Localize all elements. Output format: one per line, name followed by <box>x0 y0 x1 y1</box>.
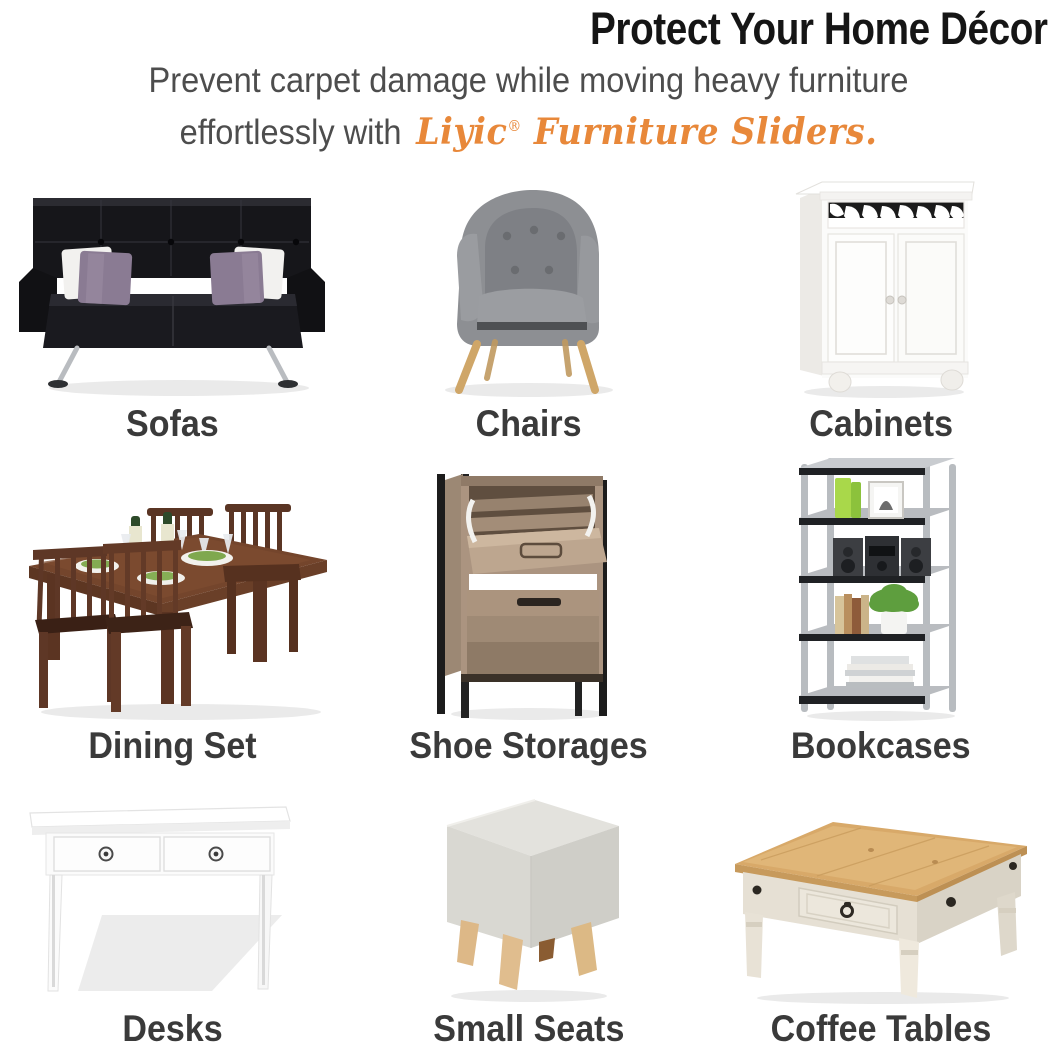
category-cell-shoe-storages[interactable]: Shoe Storages <box>352 452 704 774</box>
brand-wordmark: Liyic® Furniture Sliders. <box>411 111 878 153</box>
category-label-dining-set: Dining Set <box>88 724 256 772</box>
category-cell-sofas[interactable]: Sofas <box>0 168 352 452</box>
subtitle-line-2-text: effortlessly with <box>180 113 402 152</box>
category-label-coffee-tables: Coffee Tables <box>770 1007 991 1055</box>
bookcase-image <box>705 452 1057 724</box>
category-label-desks: Desks <box>122 1007 222 1055</box>
category-cell-chairs[interactable]: Chairs <box>352 168 704 452</box>
shoe-storage-image <box>352 452 704 724</box>
category-label-chairs: Chairs <box>476 402 582 450</box>
category-label-small-seats: Small Seats <box>433 1007 624 1055</box>
category-label-sofas: Sofas <box>126 402 219 450</box>
brand-name: Liyic <box>416 111 507 153</box>
page-title: Protect Your Home Décor <box>152 0 1051 58</box>
small-seat-image <box>352 774 704 1008</box>
desk-image <box>0 774 352 1008</box>
subtitle-line-2: effortlessly with Liyic® Furniture Slide… <box>43 104 1015 155</box>
category-cell-cabinets[interactable]: Cabinets <box>705 168 1057 452</box>
dining-set-image <box>0 452 352 724</box>
cabinet-image <box>705 168 1057 402</box>
coffee-table-image <box>705 774 1057 1008</box>
category-grid: Sofas <box>0 168 1057 1057</box>
category-label-bookcases: Bookcases <box>791 724 971 772</box>
sofa-image <box>0 168 352 402</box>
header: Protect Your Home Décor Prevent carpet d… <box>0 0 1057 170</box>
brand-product: Furniture Sliders. <box>534 111 877 153</box>
category-cell-small-seats[interactable]: Small Seats <box>352 774 704 1057</box>
category-cell-coffee-tables[interactable]: Coffee Tables <box>705 774 1057 1057</box>
category-cell-desks[interactable]: Desks <box>0 774 352 1057</box>
infographic-page: Protect Your Home Décor Prevent carpet d… <box>0 0 1057 1057</box>
chair-image <box>352 168 704 402</box>
category-label-shoe-storages: Shoe Storages <box>409 724 647 772</box>
subtitle-line-1: Prevent carpet damage while moving heavy… <box>43 58 1015 104</box>
category-label-cabinets: Cabinets <box>809 402 953 450</box>
registered-trademark-icon: ® <box>507 117 521 135</box>
category-cell-dining-set[interactable]: Dining Set <box>0 452 352 774</box>
category-cell-bookcases[interactable]: Bookcases <box>705 452 1057 774</box>
